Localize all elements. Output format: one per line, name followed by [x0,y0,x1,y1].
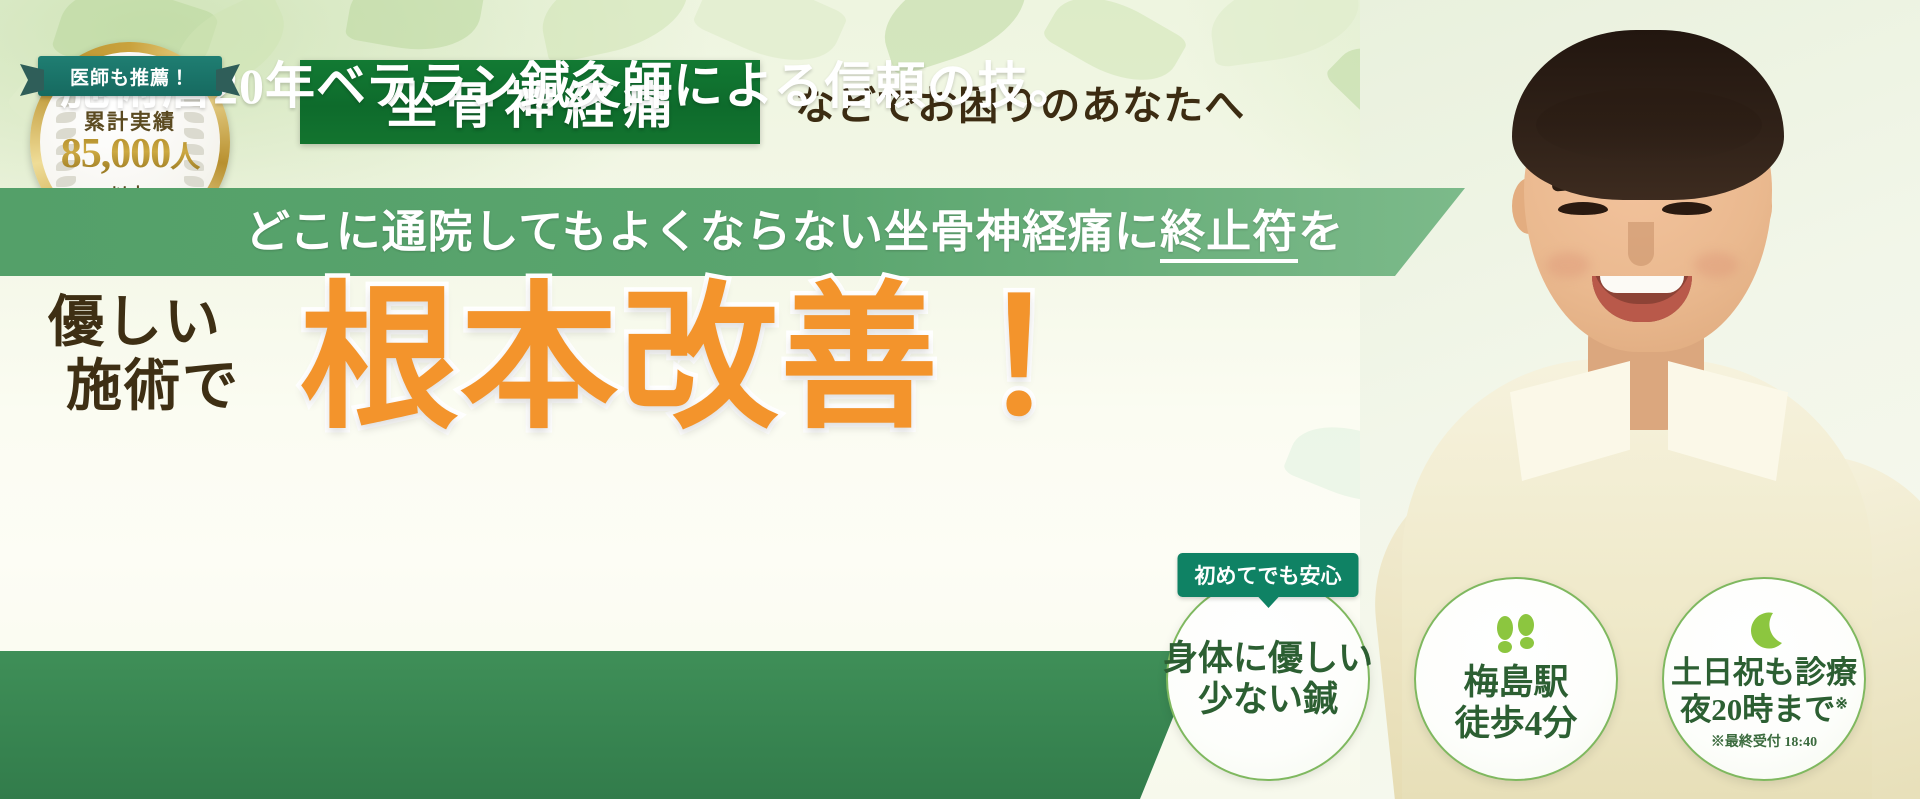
main-headline-emphasis: 根本改善！ [300,282,1100,440]
teeth [1600,276,1684,293]
feature-badge-line2-text: 夜20時まで [1680,692,1835,727]
seal-number-unit: 人 [170,141,199,174]
feature-badge-line2: 夜20時まで※ [1680,692,1848,729]
seal-number: 85,000人 [40,130,220,178]
feature-badge-line1: 身体に優しい [1163,638,1373,679]
eye-right [1662,202,1712,215]
feature-badge-line2-sup: ※ [1835,697,1848,713]
nose [1628,222,1654,266]
seal-number-value: 85,000 [61,131,171,177]
feature-badge-hours[interactable]: 土日祝も診療 夜20時まで※ ※最終受付 18:40 [1662,577,1866,781]
eye-left [1558,202,1608,215]
subheadline-part3: を [1298,207,1344,257]
feature-badge-access[interactable]: 梅島駅 徒歩4分 [1414,577,1618,781]
feature-badge-note: ※最終受付 18:40 [1711,731,1817,751]
feature-badge-line1: 梅島駅 [1463,662,1568,703]
subheadline-part1: どこに通院してもよくならない坐骨神経痛に [245,207,1160,257]
cheek-left [1546,252,1590,278]
feature-badge-tag: 初めてでも安心 [1178,553,1359,597]
feature-badge-line2: 徒歩4分 [1455,703,1578,744]
feature-badge-gentle[interactable]: 初めてでも安心 身体に優しい 少ない鍼 [1166,577,1370,781]
main-headline-left: 優しい 施術で [48,292,298,420]
cheek-right [1694,252,1738,278]
main-headline-line1: 優しい [48,292,222,354]
main-headline-line2: 施術で [48,356,298,420]
subheadline-underlined: 終止符 [1160,207,1298,263]
subheadline-text: どこに通院してもよくならない坐骨神経痛に終止符を [245,197,1425,267]
seal-ribbon-label: 医師も推薦！ [38,56,222,96]
footprints-icon [1492,614,1540,658]
feature-badge-line2: 少ない鍼 [1198,679,1338,720]
bottom-bar [0,651,1140,799]
hero-banner: 累計実績 85,000人 以上 医師も推薦！ どこに通院してもよくならない坐骨神… [0,0,1920,799]
moon-icon [1741,607,1787,653]
feature-badge-line1: 土日祝も診療 [1671,655,1857,692]
